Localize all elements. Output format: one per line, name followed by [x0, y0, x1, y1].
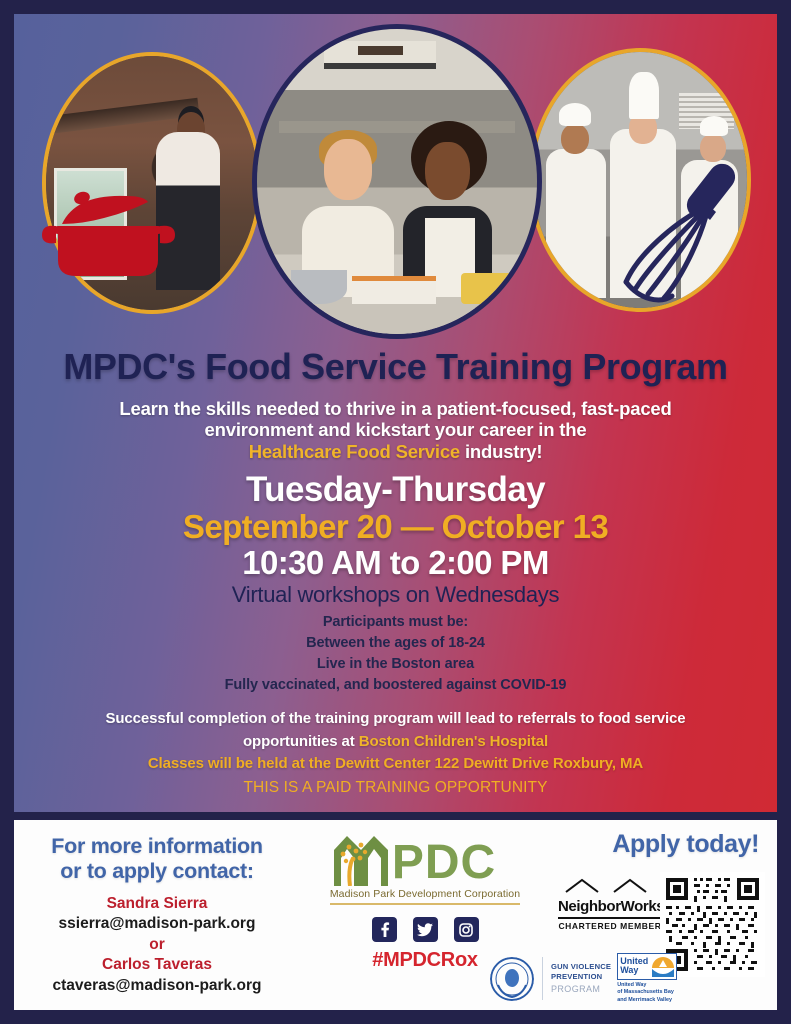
- outcome-prefix: opportunities at: [243, 733, 359, 750]
- requirements-list: Participants must be: Between the ages o…: [40, 612, 751, 696]
- requirements-heading: Participants must be:: [40, 612, 751, 633]
- outcome-text: Successful completion of the training pr…: [40, 708, 751, 753]
- paid-training-notice: THIS IS A PAID TRAINING OPPORTUNITY: [40, 776, 751, 801]
- contact-heading-line-1: For more information: [22, 834, 292, 859]
- contact-name-2: Carlos Taveras: [22, 955, 292, 975]
- kitchen-rail: [45, 98, 199, 134]
- page-title: MPDC's Food Service Training Program: [40, 348, 751, 386]
- outcome-employer: Boston Children's Hospital: [359, 733, 548, 750]
- mpdc-tree-mark-icon: [330, 832, 392, 886]
- chef-head: [177, 112, 205, 148]
- gvp-line-1: GUN VIOLENCE: [551, 962, 611, 972]
- apply-block: Apply today! NeighborWorks CHARTERED MEM…: [550, 820, 777, 1010]
- fruit-container: [461, 273, 514, 304]
- united-way-caption-2: of Massachusetts Bay: [617, 989, 677, 996]
- mpdc-tagline: Madison Park Development Corporation: [330, 888, 520, 905]
- schedule-dates: September 20 — October 13: [40, 509, 751, 545]
- requirement-item: Fully vaccinated, and boostered against …: [40, 675, 751, 696]
- subtitle-tail: industry!: [460, 441, 542, 462]
- contact-heading: For more information or to apply contact…: [22, 834, 292, 884]
- twitter-icon[interactable]: [413, 917, 438, 942]
- gun-violence-prevention-logo: GUN VIOLENCE PREVENTION PROGRAM: [551, 962, 611, 995]
- contact-or: or: [22, 935, 292, 955]
- photo-students-center: [252, 24, 542, 339]
- united-way-caption-1: United Way: [617, 982, 677, 989]
- commonwealth-of-massachusetts-seal-icon: [490, 957, 534, 1001]
- united-way-rainbow-icon: [650, 954, 676, 979]
- subtitle: Learn the skills needed to thrive in a p…: [40, 398, 751, 462]
- virtual-note: Virtual workshops on Wednesdays: [40, 582, 751, 608]
- apply-cta: Apply today!: [612, 830, 759, 859]
- subtitle-highlight: Healthcare Food Service: [249, 441, 460, 462]
- outcome-line-1: Successful completion of the training pr…: [40, 708, 751, 731]
- whisk-icon: [614, 154, 759, 304]
- footer-panel: For more information or to apply contact…: [14, 820, 777, 1010]
- contact-name-1: Sandra Sierra: [22, 894, 292, 914]
- mpdc-logo: PDC Madison Park Development Corporation: [330, 830, 520, 905]
- instagram-icon[interactable]: [454, 917, 479, 942]
- united-way-caption-3: and Merrimack Valley: [617, 997, 677, 1004]
- neighborworks-member-label: CHARTERED MEMBER: [558, 917, 662, 931]
- neighborworks-wordmark: NeighborWorks: [558, 898, 662, 915]
- subtitle-line-2: environment and kickstart your career in…: [40, 419, 751, 440]
- main-copy: MPDC's Food Service Training Program Lea…: [14, 348, 777, 801]
- requirement-item: Live in the Boston area: [40, 654, 751, 675]
- kitchen-hood: [324, 41, 436, 68]
- requirement-item: Between the ages of 18-24: [40, 633, 751, 654]
- class-location: Classes will be held at the Dewitt Cente…: [40, 753, 751, 776]
- hero-panel: MPDC's Food Service Training Program Lea…: [14, 14, 777, 812]
- mixing-bowl: [291, 270, 347, 304]
- outcome-line-2: opportunities at Boston Children's Hospi…: [40, 731, 751, 754]
- mpdc-wordmark: PDC: [392, 840, 496, 886]
- neighborworks-logo: NeighborWorks CHARTERED MEMBER: [558, 878, 662, 931]
- social-links: [300, 917, 550, 942]
- united-way-logo: United Way Unit: [617, 953, 677, 1004]
- cooking-pot-icon: [38, 182, 178, 287]
- schedule-days: Tuesday-Thursday: [40, 472, 751, 509]
- contact-email-2[interactable]: ctaveras@madison-park.org: [22, 976, 292, 996]
- contact-heading-line-2: or to apply contact:: [22, 859, 292, 884]
- schedule-times: 10:30 AM to 2:00 PM: [40, 545, 751, 581]
- subtitle-line-3: Healthcare Food Service industry!: [40, 441, 751, 462]
- flyer-root: MPDC's Food Service Training Program Lea…: [0, 0, 791, 1024]
- united-way-line-2: Way: [620, 966, 648, 975]
- gvp-line-3: PROGRAM: [551, 983, 611, 995]
- partner-logos: GUN VIOLENCE PREVENTION PROGRAM United W…: [490, 953, 677, 1004]
- contact-email-1[interactable]: ssierra@madison-park.org: [22, 914, 292, 934]
- contact-block: For more information or to apply contact…: [14, 820, 300, 1010]
- neighborworks-roof-icon: [560, 878, 660, 893]
- subtitle-line-1: Learn the skills needed to thrive in a p…: [40, 398, 751, 419]
- food-tray: [352, 276, 436, 303]
- gvp-line-2: PREVENTION: [551, 972, 611, 982]
- facebook-icon[interactable]: [372, 917, 397, 942]
